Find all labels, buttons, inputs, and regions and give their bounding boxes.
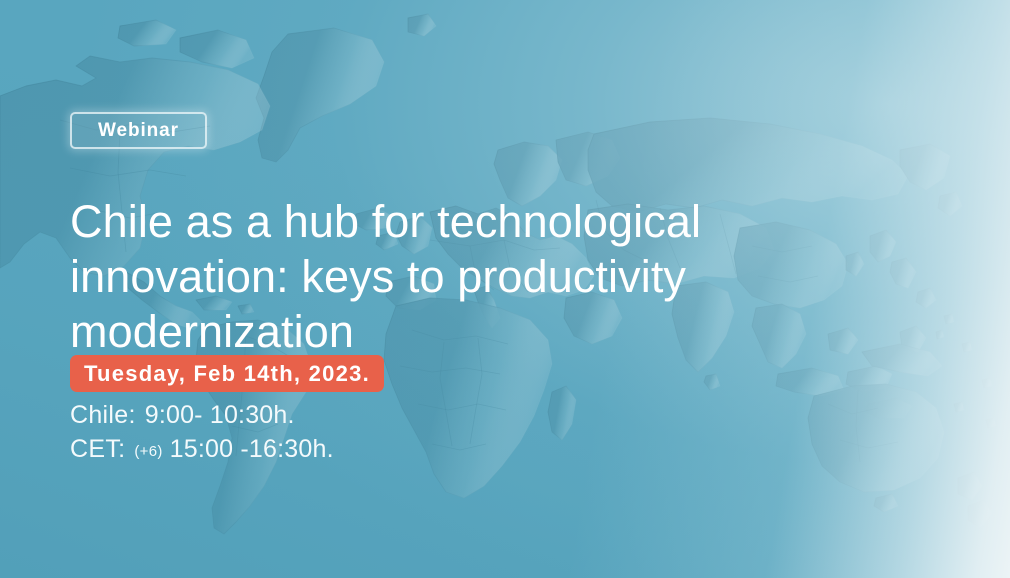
time-zone-label-cet: CET: [70,432,125,466]
date-badge-label: Tuesday, Feb 14th, 2023. [84,363,370,385]
schedule-times: Chile: 9:00- 10:30h. CET: (+6) 15:00 -16… [70,398,334,470]
time-row-cet: CET: (+6) 15:00 -16:30h. [70,432,334,470]
time-zone-label-chile: Chile: [70,398,136,432]
time-offset-cet: (+6) [134,435,162,469]
time-range-chile: 9:00- 10:30h. [145,398,295,432]
time-row-chile: Chile: 9:00- 10:30h. [70,398,334,432]
time-range-cet: 15:00 -16:30h. [170,432,334,466]
webinar-banner: Webinar Chile as a hub for technological… [0,0,1010,578]
banner-content: Webinar Chile as a hub for technological… [70,0,850,578]
date-badge: Tuesday, Feb 14th, 2023. [70,355,384,392]
webinar-badge: Webinar [70,112,207,149]
page-title: Chile as a hub for technological innovat… [70,194,830,359]
webinar-badge-label: Webinar [98,121,179,140]
